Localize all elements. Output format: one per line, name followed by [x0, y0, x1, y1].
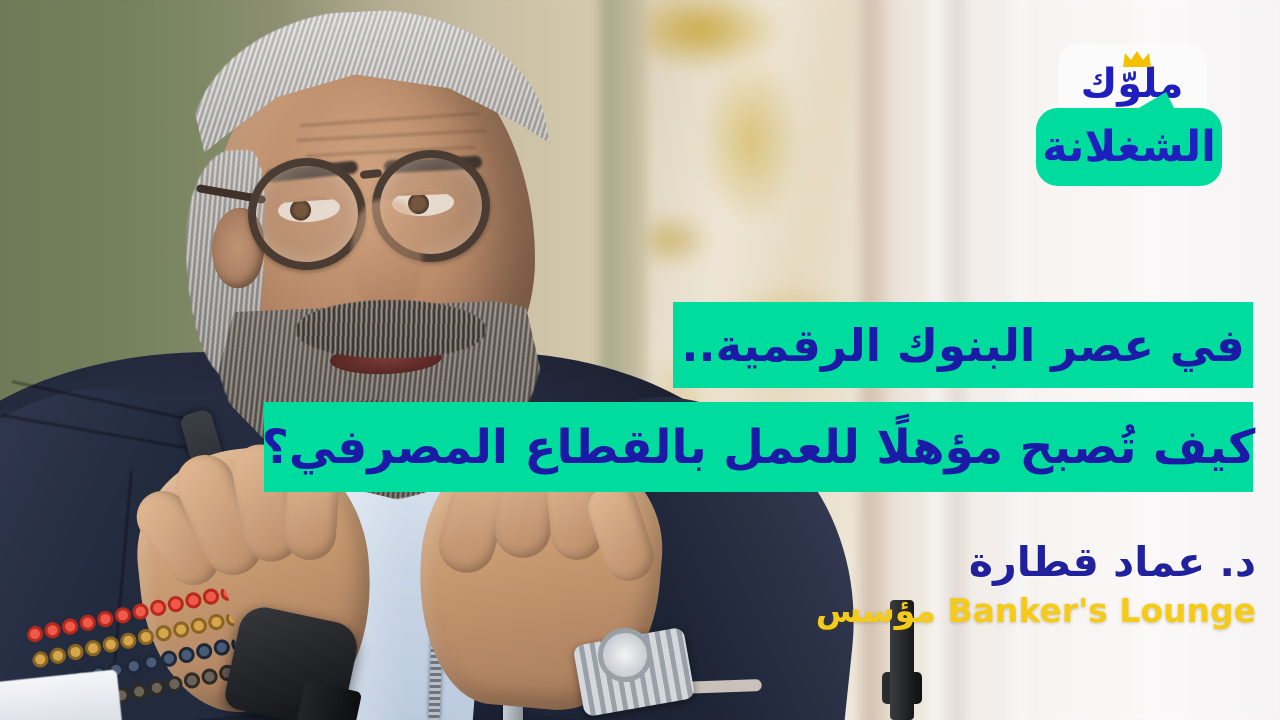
logo-bottom-text: الشغلانة	[1042, 126, 1216, 169]
channel-logo[interactable]: ملوّك الشغلانة	[1036, 44, 1222, 186]
speaker-role-brand: Banker's Lounge	[947, 592, 1256, 630]
moustache	[296, 300, 486, 358]
speaker-block: د. عماد قطارة Banker's Lounge مؤسس	[816, 540, 1256, 630]
title-line1-text: في عصر البنوك الرقمية..	[681, 319, 1244, 372]
title-line2-text: كيف تُصبح مؤهلًا للعمل بالقطاع المصرفي؟	[262, 420, 1256, 475]
title-banner-line2: كيف تُصبح مؤهلًا للعمل بالقطاع المصرفي؟	[264, 402, 1253, 492]
title-banner-line1: في عصر البنوك الرقمية..	[673, 302, 1253, 388]
crown-icon	[1122, 50, 1152, 68]
speaker-role: Banker's Lounge مؤسس	[816, 592, 1256, 630]
person-figure	[0, 0, 760, 720]
thumbnail-canvas: ملوّك الشغلانة في عصر البنوك الرقمية.. ك…	[0, 0, 1280, 720]
speaker-role-prefix: مؤسس	[816, 591, 936, 630]
speaker-name: د. عماد قطارة	[816, 540, 1256, 586]
logo-green-plate: الشغلانة	[1036, 108, 1222, 186]
